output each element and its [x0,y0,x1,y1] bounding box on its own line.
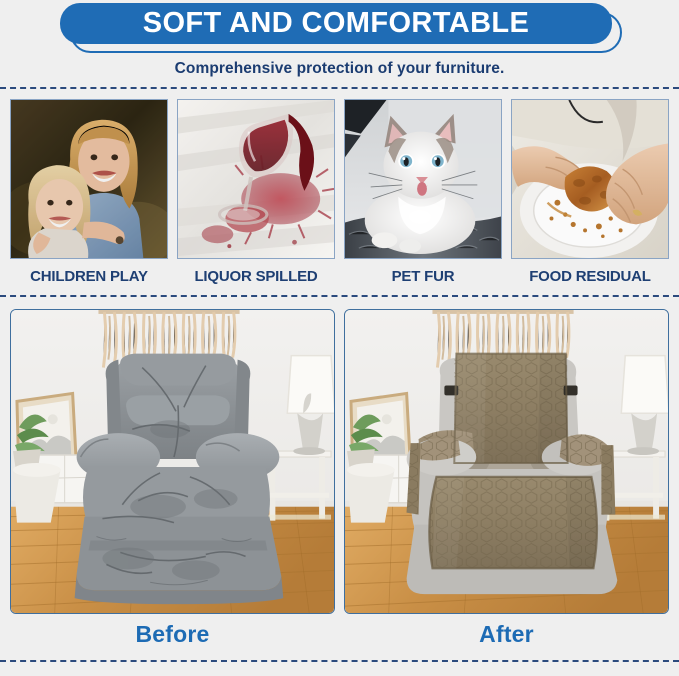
feature-caption: PET FUR [344,268,502,285]
pet-fur-photo [344,99,502,259]
liquor-spilled-photo [177,99,335,259]
feature-item: FOOD RESIDUAL [511,99,669,285]
before-label: Before [10,621,335,648]
header-banner-block: SOFT AND COMFORTABLE [0,0,679,56]
feature-caption: FOOD RESIDUAL [511,268,669,285]
feature-item: CHILDREN PLAY [10,99,168,285]
children-play-photo [10,99,168,259]
header-subtitle: Comprehensive protection of your furnitu… [0,60,679,78]
divider-bottom [0,660,679,662]
after-label: After [344,621,669,648]
feature-item: LIQUOR SPILLED [177,99,335,285]
before-recliner-photo [10,309,335,614]
banner-wrapper: SOFT AND COMFORTABLE [60,3,622,53]
food-residual-photo [511,99,669,259]
feature-row: CHILDREN PLAY [0,89,679,285]
after-recliner-photo [344,309,669,614]
comparison-panel-after: After [344,309,669,648]
feature-caption: CHILDREN PLAY [10,268,168,285]
comparison-row: Before [0,297,679,648]
banner-fill: SOFT AND COMFORTABLE [60,3,612,44]
comparison-panel-before: Before [10,309,335,648]
feature-caption: LIQUOR SPILLED [177,268,335,285]
page-title: SOFT AND COMFORTABLE [143,9,530,38]
feature-item: PET FUR [344,99,502,285]
